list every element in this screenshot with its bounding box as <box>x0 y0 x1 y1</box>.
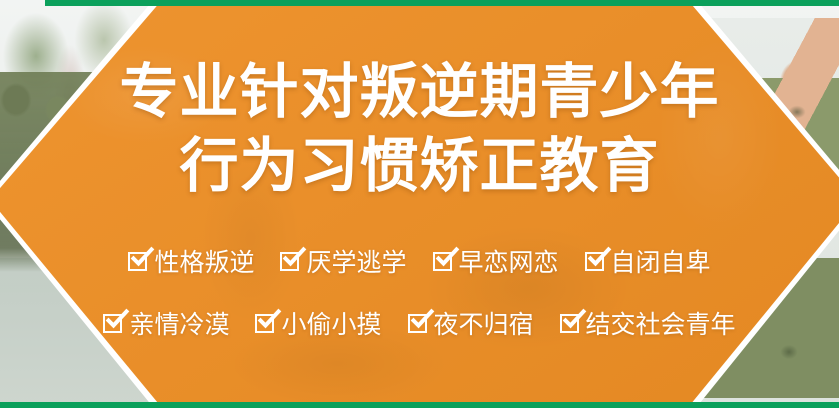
checklist-row-2: 亲情冷漠 小偷小摸 夜不归宿 <box>0 305 839 341</box>
checklist-item[interactable]: 小偷小摸 <box>255 305 381 341</box>
checklist-item-label: 结交社会青年 <box>586 305 736 341</box>
checklist-item[interactable]: 早恋网恋 <box>433 243 559 279</box>
checklist-item-label: 小偷小摸 <box>281 305 381 341</box>
promo-banner: 专业针对叛逆期青少年 行为习惯矫正教育 性格叛逆 <box>0 0 839 408</box>
check-mark-icon <box>128 252 147 271</box>
checklist-item[interactable]: 自闭自卑 <box>585 243 711 279</box>
checklist-item[interactable]: 性格叛逆 <box>128 243 254 279</box>
check-mark-icon <box>103 314 122 333</box>
checklist-item-label: 早恋网恋 <box>459 243 559 279</box>
checklist-item-label: 性格叛逆 <box>154 243 254 279</box>
checklist-row-1: 性格叛逆 厌学逃学 早恋网恋 <box>0 243 839 279</box>
banner-content: 专业针对叛逆期青少年 行为习惯矫正教育 性格叛逆 <box>0 0 839 408</box>
headline-line-1: 专业针对叛逆期青少年 <box>0 62 839 121</box>
checklist-item[interactable]: 夜不归宿 <box>408 305 534 341</box>
checklist-item[interactable]: 亲情冷漠 <box>103 305 229 341</box>
check-mark-icon <box>585 252 604 271</box>
checklist-item-label: 亲情冷漠 <box>129 305 229 341</box>
checklist-item-label: 夜不归宿 <box>434 305 534 341</box>
check-mark-icon <box>255 314 274 333</box>
check-mark-icon <box>408 314 427 333</box>
check-row: 性格叛逆 厌学逃学 早恋网恋 <box>0 243 839 279</box>
check-mark-icon <box>560 314 579 333</box>
headline-line-2: 行为习惯矫正教育 <box>0 136 839 195</box>
check-mark-icon <box>433 252 452 271</box>
check-row: 亲情冷漠 小偷小摸 夜不归宿 <box>0 305 839 341</box>
checklist-item[interactable]: 结交社会青年 <box>560 305 736 341</box>
checklist-item-label: 厌学逃学 <box>306 243 406 279</box>
checklist-item-label: 自闭自卑 <box>611 243 711 279</box>
check-mark-icon <box>280 252 299 271</box>
checklist-item[interactable]: 厌学逃学 <box>280 243 406 279</box>
